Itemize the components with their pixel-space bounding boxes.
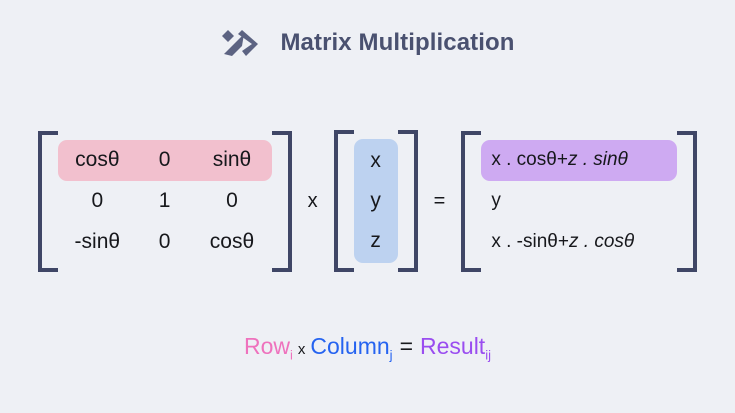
matrix-cell: -sinθ — [64, 230, 131, 254]
matrix-logo-icon — [220, 26, 262, 60]
table-row[interactable]: x . -sinθ + z . cosθ — [481, 222, 677, 263]
highlighted-column[interactable]: x y z — [354, 139, 398, 263]
left-bracket-matrix-a — [38, 131, 58, 272]
multiply-operator: x — [292, 190, 334, 213]
caption-result-subscript: ij — [485, 348, 491, 363]
result-cell-part: x . cosθ — [491, 149, 556, 171]
vector-cell: x — [354, 141, 398, 181]
matrix-cell: cosθ — [198, 230, 265, 254]
matrix-cell: 0 — [64, 189, 131, 213]
matrix-cell: 0 — [131, 230, 198, 254]
result-vector: x . cosθ + z . sinθ y x . -sinθ + z . co… — [461, 131, 697, 272]
caption-column-word: Column — [310, 333, 389, 359]
caption-times-operator: x — [293, 341, 311, 358]
rotation-matrix: cosθ 0 sinθ 0 1 0 -sinθ 0 cosθ — [38, 131, 292, 272]
matrix-cell: sinθ — [198, 148, 265, 172]
matrix-equation: cosθ 0 sinθ 0 1 0 -sinθ 0 cosθ x x y — [0, 130, 735, 272]
result-cell-part: z . sinθ — [568, 149, 628, 171]
vector-cell: y — [354, 181, 398, 221]
table-row[interactable]: x . cosθ + z . sinθ — [481, 140, 677, 181]
result-cell-part: z . cosθ — [569, 231, 634, 253]
result-vector-body: x . cosθ + z . sinθ y x . -sinθ + z . co… — [481, 131, 677, 272]
column-vector: x y z — [334, 130, 418, 272]
table-row[interactable]: 0 1 0 — [58, 181, 272, 222]
left-bracket-result — [461, 131, 481, 272]
matrix-cell: 0 — [131, 148, 198, 172]
vector-cell: z — [354, 221, 398, 261]
rotation-matrix-body: cosθ 0 sinθ 0 1 0 -sinθ 0 cosθ — [58, 131, 272, 272]
result-cell-part: y — [491, 190, 501, 212]
caption-row-word: Row — [244, 333, 290, 359]
right-bracket-vector — [398, 130, 418, 272]
result-cell-part: x . -sinθ — [491, 231, 558, 253]
formula-caption: RowixColumnj=Resultij — [0, 333, 735, 363]
result-cell-part: + — [557, 149, 568, 171]
caption-equals-operator: = — [393, 333, 420, 359]
equals-operator: = — [418, 190, 462, 213]
result-cell-part: + — [558, 231, 569, 253]
page-title: Matrix Multiplication — [280, 29, 514, 57]
column-vector-body: x y z — [354, 130, 398, 272]
matrix-cell: cosθ — [64, 148, 131, 172]
caption-result-word: Result — [420, 333, 485, 359]
table-row[interactable]: -sinθ 0 cosθ — [58, 222, 272, 263]
table-row[interactable]: y — [481, 181, 677, 222]
table-row[interactable]: cosθ 0 sinθ — [58, 140, 272, 181]
right-bracket-result — [677, 131, 697, 272]
right-bracket-matrix-a — [272, 131, 292, 272]
matrix-cell: 1 — [131, 189, 198, 213]
matrix-cell: 0 — [198, 189, 265, 213]
left-bracket-vector — [334, 130, 354, 272]
page-header: Matrix Multiplication — [0, 26, 735, 60]
